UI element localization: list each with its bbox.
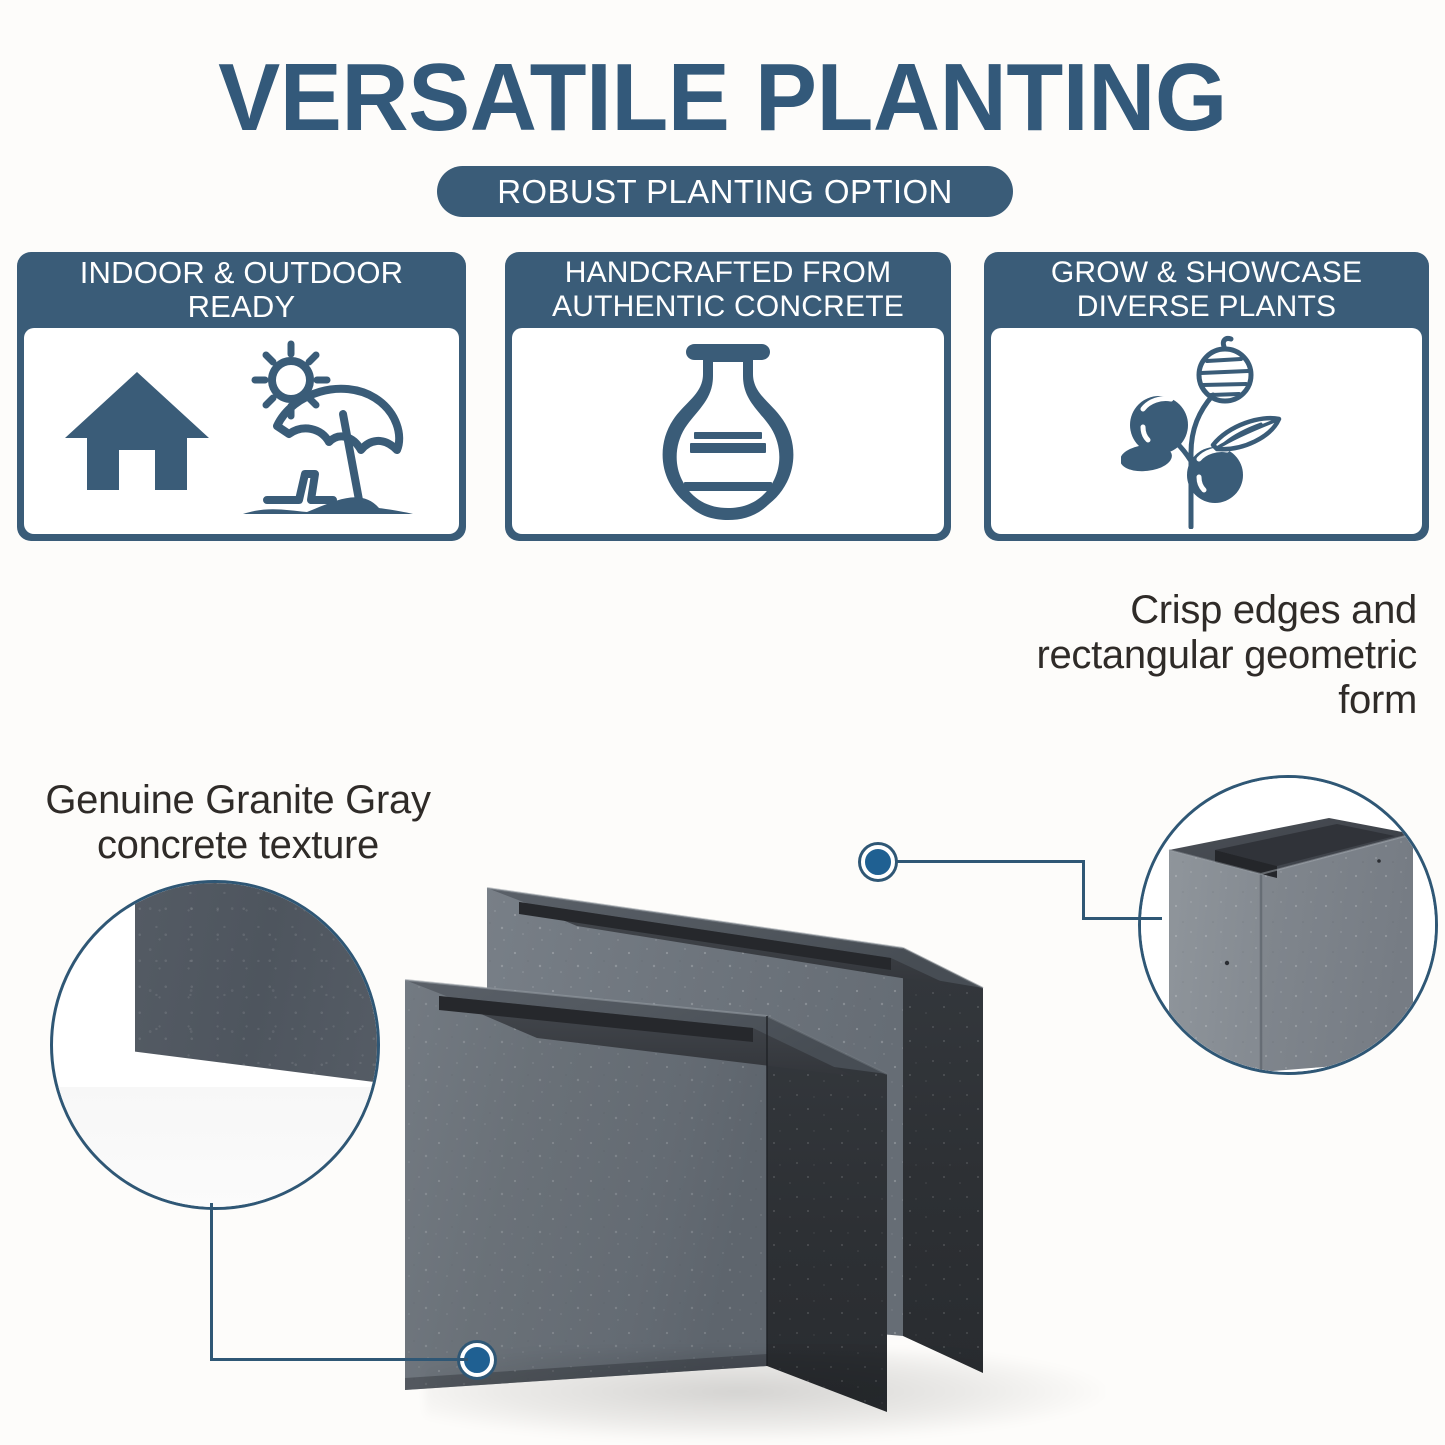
magnifier-concrete-texture — [50, 880, 380, 1210]
feature-card-body — [512, 328, 944, 534]
house-icon — [63, 366, 211, 496]
magnifier-planter-corner — [1138, 775, 1438, 1075]
feature-card-title: GROW & SHOWCASE DIVERSE PLANTS — [984, 252, 1429, 328]
ground-shadow — [425, 1350, 1105, 1442]
infographic-page: VERSATILE PLANTING ROBUST PLANTING OPTIO… — [0, 0, 1445, 1445]
callout-label-crisp-edges: Crisp edges and rectangular geometric fo… — [987, 588, 1417, 723]
magnified-corner-graphic — [1141, 778, 1435, 1072]
feature-card-body — [24, 328, 459, 534]
magnifier-concrete-slab — [135, 880, 380, 1113]
feature-card-indoor-outdoor: INDOOR & OUTDOOR READY — [17, 252, 466, 541]
hotspot-crisp-edges[interactable] — [861, 845, 895, 879]
connector-line-right-top — [895, 860, 1085, 863]
connector-line-right-bottom — [1082, 917, 1162, 920]
page-title: VERSATILE PLANTING — [22, 48, 1424, 148]
connector-line-left-step — [210, 1203, 213, 1361]
striped-berry — [1199, 338, 1251, 401]
lower-berry — [1187, 447, 1243, 503]
feature-card-authentic-concrete: HANDCRAFTED FROM AUTHENTIC CONCRETE — [505, 252, 951, 541]
feature-card-title: HANDCRAFTED FROM AUTHENTIC CONCRETE — [505, 252, 951, 328]
callout-label-granite-texture: Genuine Granite Gray concrete texture — [18, 778, 458, 868]
beach-umbrella-icon — [233, 340, 421, 522]
berry-branch-icon — [1121, 333, 1293, 529]
subtitle-badge: ROBUST PLANTING OPTION — [437, 166, 1013, 217]
connector-line-left-bottom — [210, 1358, 468, 1361]
feature-card-body — [991, 328, 1422, 534]
feature-card-title: INDOOR & OUTDOOR READY — [17, 252, 466, 328]
vase-icon — [653, 340, 803, 522]
feature-card-diverse-plants: GROW & SHOWCASE DIVERSE PLANTS — [984, 252, 1429, 541]
magnifier-floor — [53, 1087, 377, 1207]
product-photo — [395, 830, 1115, 1445]
connector-line-right-step — [1082, 860, 1085, 920]
outlined-leaf — [1213, 418, 1279, 449]
left-berry — [1130, 396, 1188, 454]
